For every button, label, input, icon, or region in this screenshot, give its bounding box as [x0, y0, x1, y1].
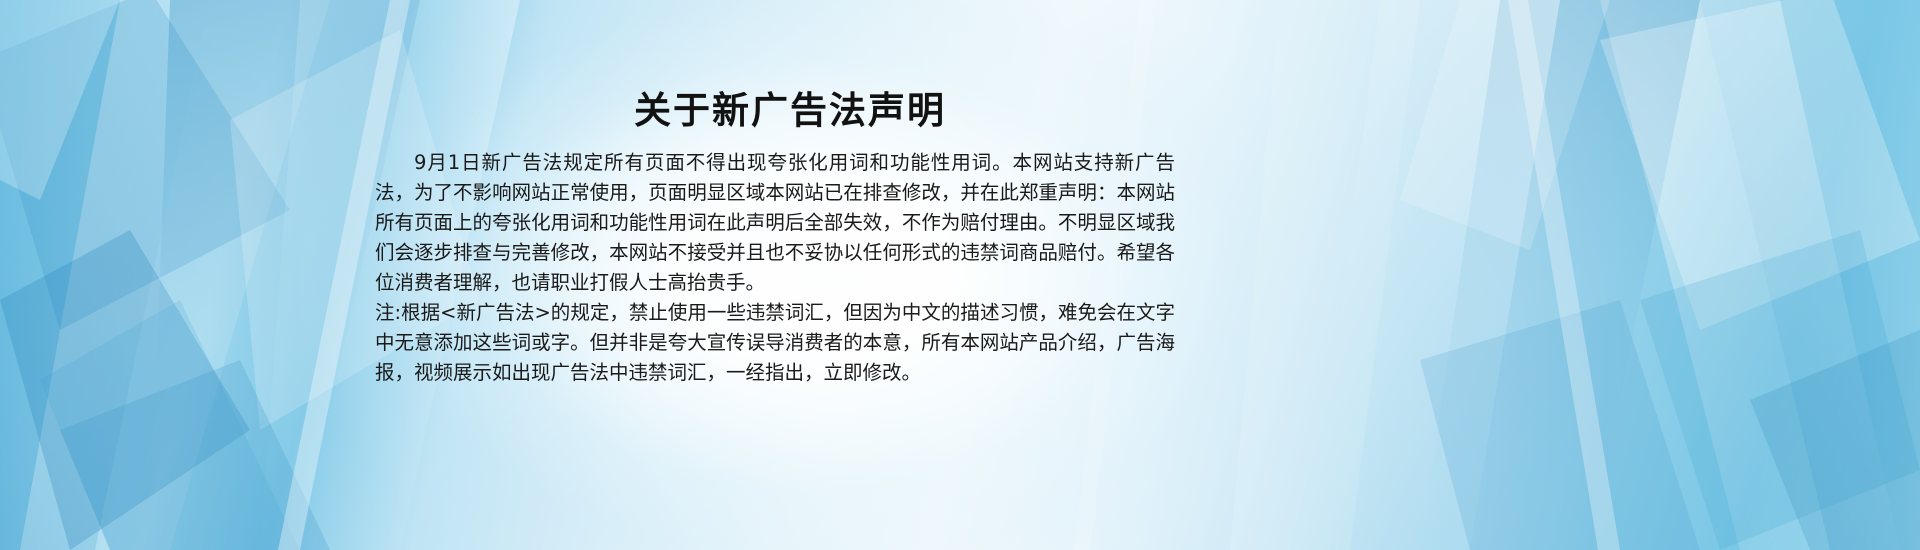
- advertising-law-statement-banner: 关于新广告法声明 9月1日新广告法规定所有页面不得出现夸张化用词和功能性用词。本…: [0, 0, 1920, 550]
- statement-body: 9月1日新广告法规定所有页面不得出现夸张化用词和功能性用词。本网站支持新广告法，…: [375, 148, 1175, 388]
- statement-paragraph-2: 注:根据<新广告法>的规定，禁止使用一些违禁词汇，但因为中文的描述习惯，难免会在…: [375, 298, 1175, 388]
- page-title: 关于新广告法声明: [0, 88, 1580, 134]
- statement-content: 关于新广告法声明 9月1日新广告法规定所有页面不得出现夸张化用词和功能性用词。本…: [0, 0, 1920, 550]
- statement-paragraph-1: 9月1日新广告法规定所有页面不得出现夸张化用词和功能性用词。本网站支持新广告法，…: [375, 148, 1175, 298]
